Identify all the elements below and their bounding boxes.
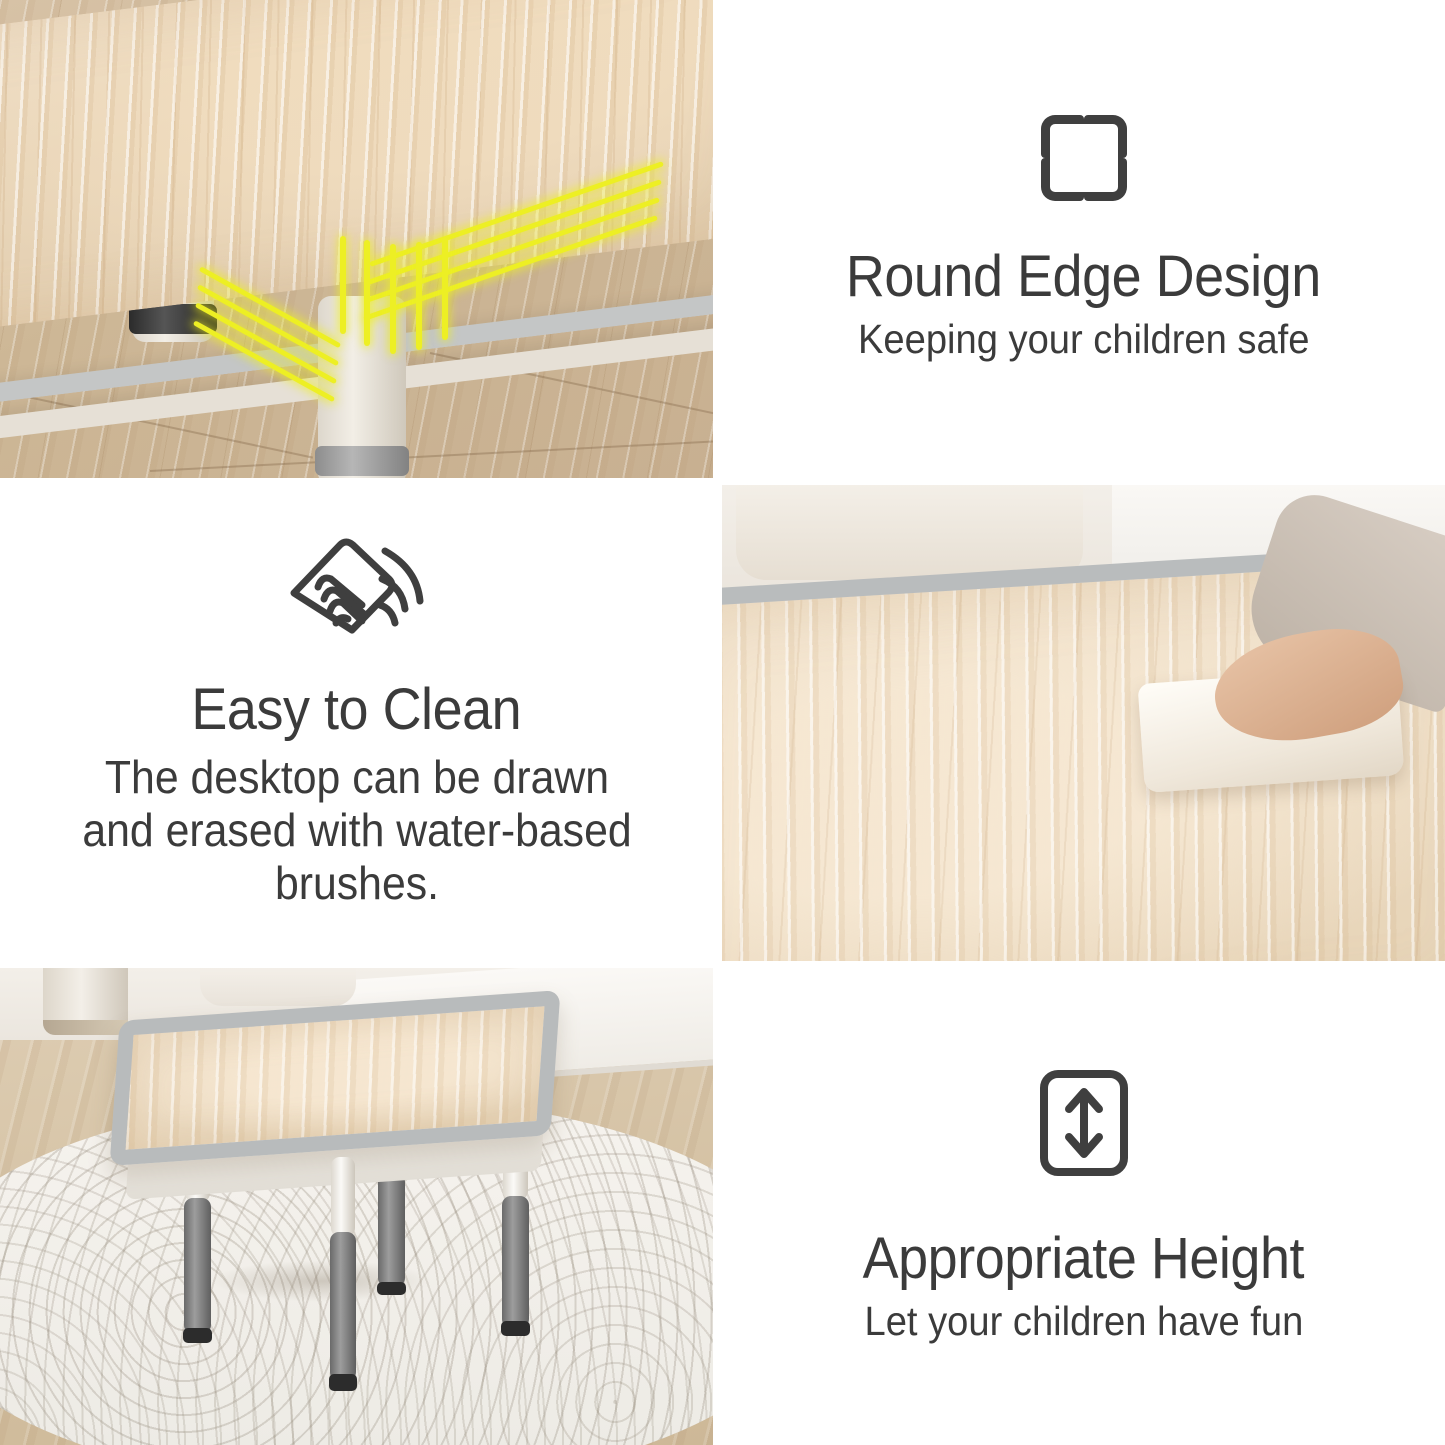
column-gutter — [713, 968, 722, 1445]
hand-wiping-desktop-photo — [722, 485, 1445, 961]
sofa-background — [200, 968, 357, 1006]
column-gutter — [713, 485, 722, 961]
panel-appropriate-height: Appropriate Height Let your children hav… — [722, 968, 1445, 1445]
panel-easy-to-clean: Easy to Clean The desktop can be drawn a… — [0, 485, 713, 961]
panel-round-edge-design: Round Edge Design Keeping your children … — [722, 0, 1445, 478]
round-edge-subtitle: Keeping your children safe — [858, 317, 1310, 363]
infographic-collage: Round Edge Design Keeping your children … — [0, 0, 1445, 1445]
full-table-on-rug-photo — [0, 968, 713, 1445]
appropriate-height-title: Appropriate Height — [863, 1229, 1304, 1289]
table-leg-front — [331, 1157, 356, 1391]
appropriate-height-subtitle: Let your children have fun — [864, 1299, 1303, 1345]
wiping-hand-icon — [282, 535, 432, 646]
corner-frame-icon — [1041, 115, 1127, 201]
height-adjust-icon — [1038, 1068, 1130, 1183]
column-gutter — [713, 0, 722, 478]
easy-clean-subtitle: The desktop can be drawn and erased with… — [68, 751, 645, 911]
round-edge-title: Round Edge Design — [846, 247, 1321, 307]
kids-table — [114, 1006, 556, 1349]
sofa-background — [736, 485, 1083, 580]
row-gutter-top — [0, 478, 1445, 485]
table-corner-closeup-photo — [0, 0, 713, 478]
table-leg-front — [318, 296, 406, 478]
easy-clean-title: Easy to Clean — [192, 680, 522, 740]
row-gutter-bottom — [0, 961, 1445, 968]
